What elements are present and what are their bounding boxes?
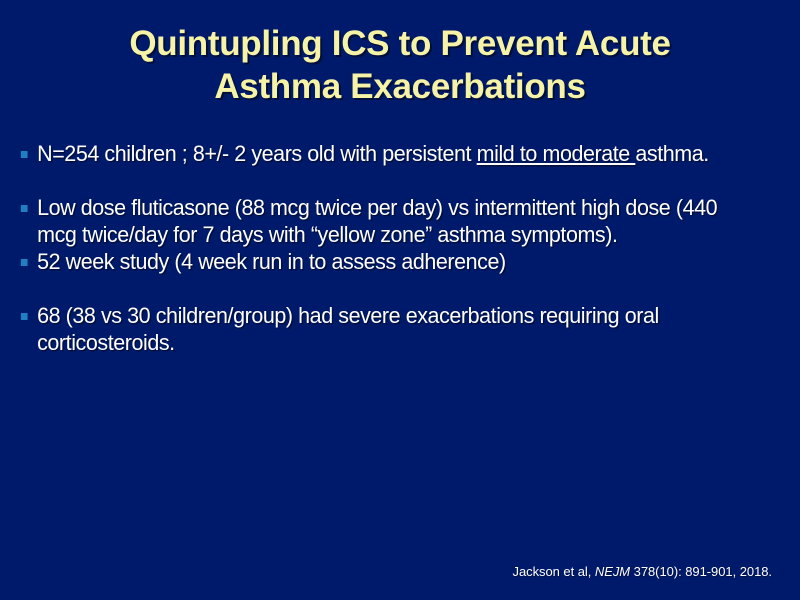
bullet-spacer [18, 167, 780, 194]
square-bullet-icon [21, 313, 28, 320]
square-bullet-icon [21, 205, 28, 212]
citation: Jackson et al, NEJM 378(10): 891-901, 20… [513, 564, 772, 580]
bullet-item: Low dose fluticasone (88 mcg twice per d… [18, 194, 746, 248]
slide-title-line-2: Asthma Exacerbations [40, 65, 760, 108]
bullet-spacer [18, 275, 780, 302]
presentation-slide: Quintupling ICS to Prevent Acute Asthma … [0, 0, 800, 600]
bullet-item-label: 68 (38 vs 30 children/group) had severe … [37, 302, 746, 356]
square-bullet-icon [21, 259, 28, 266]
slide-body-bullet-list: N=254 children ; 8+/- 2 years old with p… [18, 140, 780, 356]
bullet-item-label: 52 week study (4 week run in to assess a… [37, 248, 746, 275]
citation-reference: 378(10): 891-901, 2018. [630, 564, 772, 579]
citation-authors: Jackson et al, [513, 564, 595, 579]
bullet-text-underlined-segment: mild to moderate [477, 141, 636, 166]
bullet-item-label: Low dose fluticasone (88 mcg twice per d… [37, 194, 746, 248]
bullet-text-segment-tail: asthma. [635, 141, 708, 166]
slide-title-line-1: Quintupling ICS to Prevent Acute [40, 22, 760, 65]
bullet-item: 68 (38 vs 30 children/group) had severe … [18, 302, 746, 356]
bullet-text-segment: N=254 children ; 8+/- 2 years old with p… [37, 141, 477, 166]
bullet-item: 52 week study (4 week run in to assess a… [18, 248, 746, 275]
bullet-item: N=254 children ; 8+/- 2 years old with p… [18, 140, 746, 167]
square-bullet-icon [21, 151, 28, 158]
bullet-item-label: N=254 children ; 8+/- 2 years old with p… [37, 140, 746, 167]
citation-journal: NEJM [595, 564, 630, 579]
slide-title: Quintupling ICS to Prevent Acute Asthma … [40, 22, 760, 108]
